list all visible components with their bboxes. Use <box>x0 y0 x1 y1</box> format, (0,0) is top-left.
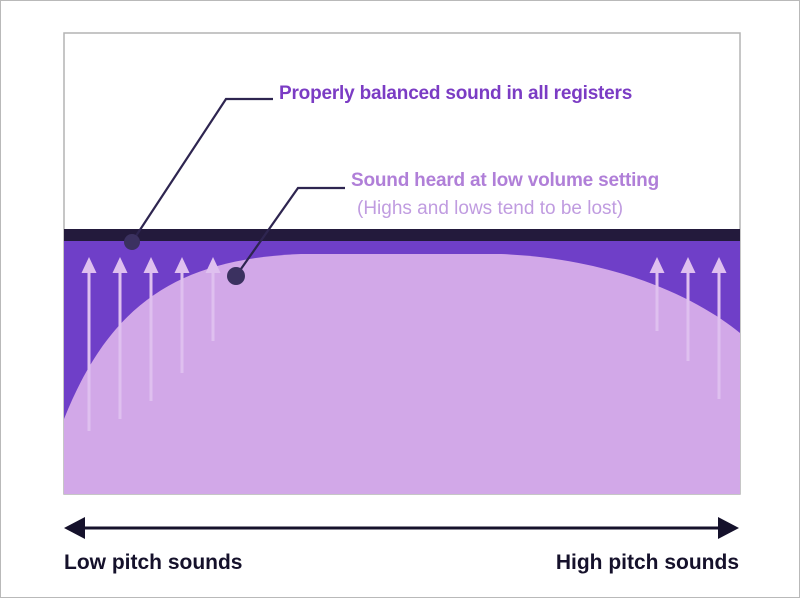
axis-label-low-pitch: Low pitch sounds <box>64 551 243 574</box>
axis-arrowhead-right <box>718 517 739 539</box>
marker-low-volume <box>227 267 245 285</box>
balanced-level-band <box>64 229 740 241</box>
diagram-canvas: Properly balanced sound in all registers… <box>0 0 800 598</box>
axis-label-high-pitch: High pitch sounds <box>556 551 739 574</box>
annotation-low-volume-line1: Sound heard at low volume setting <box>351 170 659 191</box>
annotation-balanced-sound: Properly balanced sound in all registers <box>279 83 632 104</box>
loudness-curve-figure: Properly balanced sound in all registers… <box>1 1 800 599</box>
annotation-low-volume-line2: (Highs and lows tend to be lost) <box>357 198 623 219</box>
marker-balanced <box>124 234 140 250</box>
heard-at-low-volume-area <box>64 254 740 494</box>
axis-arrowhead-left <box>64 517 85 539</box>
pitch-axis-arrow <box>64 517 739 539</box>
